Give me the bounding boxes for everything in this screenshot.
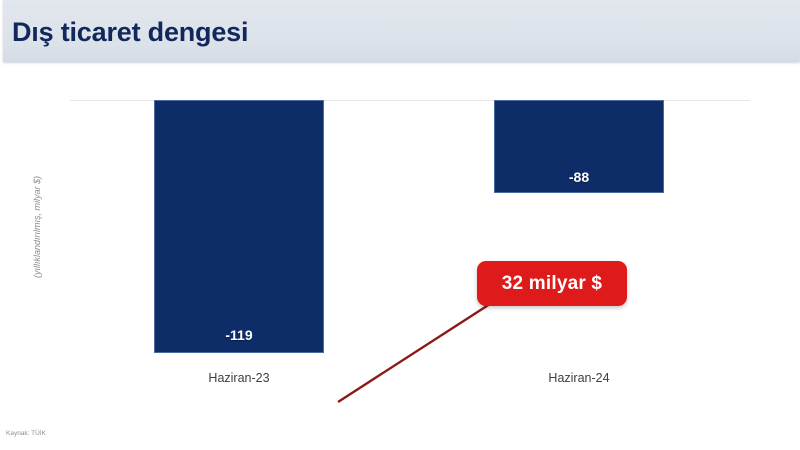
chart-plot-area: (yıllıklandırılmış, milyar $) -119 -88 H… [0,62,800,450]
category-label-haziran-24: Haziran-24 [494,371,664,385]
slide-header-band: Dış ticaret dengesi [3,0,800,62]
status-badge[interactable]: 32 milyar $ [477,261,627,306]
source-note: Kaynak: TÜİK [6,430,46,437]
slide-canvas: Dış ticaret dengesi (yıllıklandırılmış, … [0,0,800,450]
status-badge-label: 32 milyar $ [502,273,602,295]
category-label-haziran-23: Haziran-23 [154,371,324,385]
page-title: Dış ticaret dengesi [12,17,248,48]
bar-value-label-haziran-23: -119 [154,327,324,343]
y-axis-title: (yıllıklandırılmış, milyar $) [32,127,42,327]
bar-haziran-23[interactable] [154,100,324,353]
bar-value-label-haziran-24: -88 [494,169,664,185]
